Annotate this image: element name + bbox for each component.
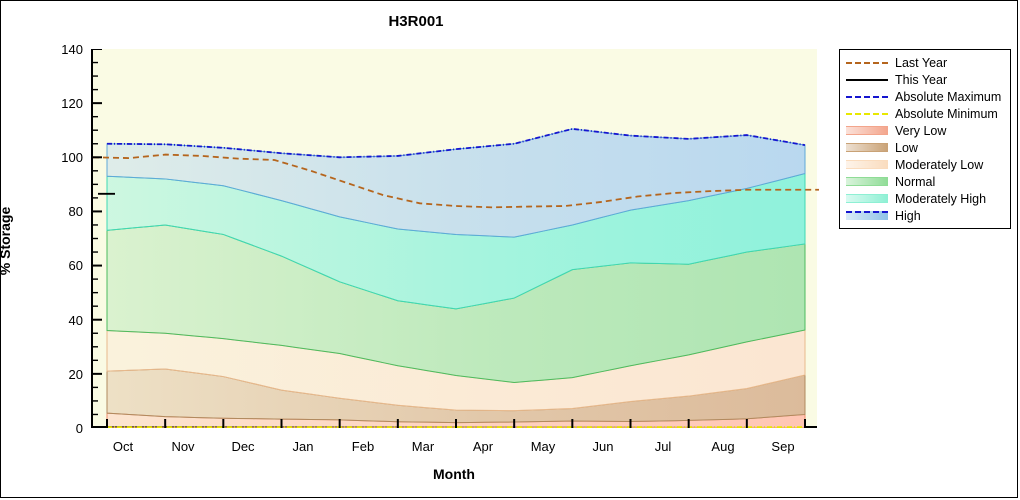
- legend-item-absolute-minimum[interactable]: Absolute Minimum: [840, 105, 1010, 122]
- legend-item-moderately-high[interactable]: Moderately High: [840, 190, 1010, 207]
- legend-swatch-very-low: [846, 126, 888, 135]
- chart-figure: H3R001 140 120 100 80 60 40 20 0 Oct Nov…: [0, 0, 1018, 498]
- legend-swatch-normal: [846, 177, 888, 186]
- xtick-label-feb: Feb: [335, 439, 391, 454]
- xtick-label-jan: Jan: [275, 439, 331, 454]
- legend-swatch-absolute-maximum: [846, 91, 888, 103]
- legend-swatch-moderately-low: [846, 160, 888, 169]
- ytick-label-140: 140: [41, 42, 83, 57]
- legend-label-low: Low: [895, 141, 918, 155]
- legend-label-moderately-high: Moderately High: [895, 192, 986, 206]
- ytick-label-20: 20: [41, 367, 83, 382]
- legend-swatch-high: [846, 211, 888, 220]
- x-axis-label: Month: [91, 466, 817, 482]
- chart-legend: Last Year This Year Absolute Maximum Abs…: [839, 49, 1011, 229]
- legend-label-high: High: [895, 209, 921, 223]
- legend-swatch-last-year: [846, 57, 888, 69]
- legend-label-this-year: This Year: [895, 73, 947, 87]
- legend-label-normal: Normal: [895, 175, 935, 189]
- legend-label-absolute-maximum: Absolute Maximum: [895, 90, 1001, 104]
- page-title: H3R001: [1, 13, 831, 30]
- ytick-label-120: 120: [41, 96, 83, 111]
- legend-item-moderately-low[interactable]: Moderately Low: [840, 156, 1010, 173]
- xtick-label-apr: Apr: [455, 439, 511, 454]
- legend-label-absolute-minimum: Absolute Minimum: [895, 107, 998, 121]
- xtick-label-dec: Dec: [215, 439, 271, 454]
- legend-swatch-low: [846, 143, 888, 152]
- legend-item-low[interactable]: Low: [840, 139, 1010, 156]
- ytick-label-80: 80: [41, 204, 83, 219]
- legend-label-moderately-low: Moderately Low: [895, 158, 983, 172]
- xtick-label-mar: Mar: [395, 439, 451, 454]
- ytick-label-40: 40: [41, 313, 83, 328]
- legend-item-absolute-maximum[interactable]: Absolute Maximum: [840, 88, 1010, 105]
- ytick-label-0: 0: [41, 421, 83, 436]
- xtick-label-nov: Nov: [155, 439, 211, 454]
- legend-label-last-year: Last Year: [895, 56, 947, 70]
- xtick-label-jun: Jun: [575, 439, 631, 454]
- legend-item-high[interactable]: High: [840, 207, 1010, 224]
- chart-canvas: [93, 49, 819, 428]
- xtick-label-sep: Sep: [755, 439, 811, 454]
- legend-swatch-this-year: [846, 74, 888, 86]
- legend-item-normal[interactable]: Normal: [840, 173, 1010, 190]
- legend-swatch-absolute-minimum: [846, 108, 888, 120]
- legend-item-last-year[interactable]: Last Year: [840, 54, 1010, 71]
- legend-item-very-low[interactable]: Very Low: [840, 122, 1010, 139]
- y-axis-label: % Storage: [0, 171, 13, 311]
- xtick-label-aug: Aug: [695, 439, 751, 454]
- ytick-label-100: 100: [41, 150, 83, 165]
- legend-swatch-moderately-high: [846, 194, 888, 203]
- plot-area: [91, 49, 817, 428]
- xtick-label-may: May: [515, 439, 571, 454]
- xtick-label-oct: Oct: [95, 439, 151, 454]
- ytick-label-60: 60: [41, 258, 83, 273]
- legend-item-this-year[interactable]: This Year: [840, 71, 1010, 88]
- xtick-label-jul: Jul: [635, 439, 691, 454]
- legend-label-very-low: Very Low: [895, 124, 946, 138]
